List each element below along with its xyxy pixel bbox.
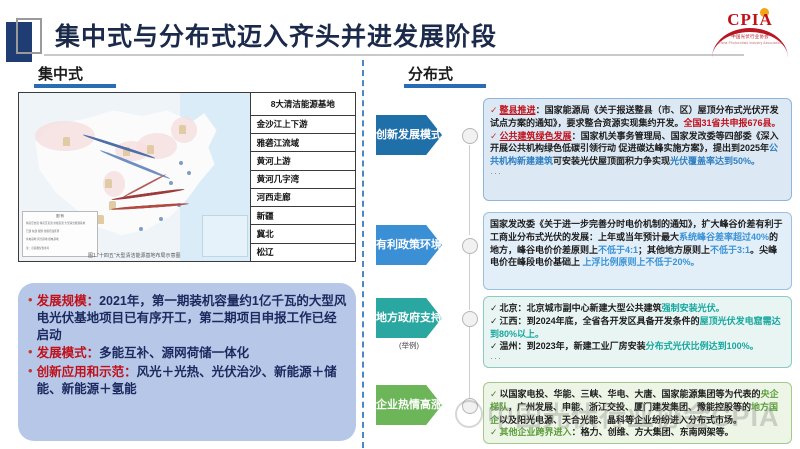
card-item-body: 温州：到2023年，新建工业厂房安装分布式光伏比例达到100%。 <box>500 341 759 351</box>
left-section-underline <box>34 84 116 88</box>
ellipsis: ··· <box>490 168 784 178</box>
text-run: 北京城市副中心新建大型公共建筑 <box>527 303 662 313</box>
text-run: 可安装光伏屋顶面积力争实现 <box>553 156 670 166</box>
summary-text: 创新应用和示范：风光＋光热、光伏治沙、新能源＋储能、新能源＋氢能 <box>37 364 348 398</box>
bullet-icon: • <box>28 364 33 398</box>
text-run: 不低于4:1 <box>598 245 638 255</box>
left-summary-box: • 发展规模：2021年，第一期装机容量约1亿千瓦的大型风电光伏基地项目已有序开… <box>18 283 356 441</box>
card-item: ✓江西：到2024年底，全省各开发区具备开发条件的屋顶光伏发电窟需达到80%以上… <box>490 315 784 341</box>
map-pin <box>179 125 186 134</box>
stage-label: 企业热情高涨 <box>376 399 442 412</box>
cpia-logo-subtitle: 中国光伏行业协会 <box>708 34 792 40</box>
map-legend: 图 例 特高压交流 特高压直流 常规直流 大型清洁能源基地 已建 在建 规划 省… <box>22 211 98 257</box>
table-row: 冀北 <box>251 225 355 243</box>
stage-label: 地方政府支持 <box>376 312 442 325</box>
check-icon: ✓ <box>490 131 498 141</box>
page-title: 集中式与分布式迈入齐头并进发展阶段 <box>55 17 497 53</box>
table-row: 河西走廊 <box>251 189 355 207</box>
card-enterprise: ✓以国家电投、华能、三峡、华电、大唐、国家能源集团等为代表的央企梯队，广州发展、… <box>483 382 792 444</box>
text-run: 以国家电投、华能、三峡、华电、大唐、国家能源集团等为代表的 <box>500 389 761 399</box>
table-row: 金沙江上下游 <box>251 116 355 134</box>
panel-divider <box>362 60 364 448</box>
stage-connector <box>469 325 470 400</box>
text-run: 光伏覆盖率达到50%。 <box>670 156 760 166</box>
text-run: 其他企业跨界进入 <box>500 427 572 437</box>
cpia-logo: CPIA 中国光伏行业协会 China Photovoltaic Industr… <box>708 6 792 50</box>
card-innovation: ✓整县推进：国家能源局《关于报送整县（市、区）屋顶分布式光伏开发试点方案的通知》… <box>483 98 792 201</box>
stage-connector <box>469 145 470 235</box>
energy-base-table: 8大清洁能源基地 金沙江上下游 雅砻江流域 黄河上游 黄河几字湾 河西走廊 新疆… <box>251 93 355 261</box>
card-item: ✓以国家电投、华能、三峡、华电、大唐、国家能源集团等为代表的央企梯队，广州发展、… <box>490 388 784 426</box>
card-item-body: 国家发改委《关于进一步完善分时电价机制的通知》，扩大峰谷价差有利于工商业分布式光… <box>490 219 783 267</box>
map-card: 图 例 特高压交流 特高压直流 常规直流 大型清洁能源基地 已建 在建 规划 省… <box>18 92 356 262</box>
stage-chevron-local-gov[interactable]: 地方政府支持 <box>376 298 442 338</box>
stage-chevron-policy[interactable]: 有利政策环境 <box>376 225 442 265</box>
text-run: ：格力、创维、方大集团、东南网架等。 <box>572 427 734 437</box>
card-local-gov: ✓北京：北京城市副中心新建大型公共建筑强制安装光伏。 ✓江西：到2024年底，全… <box>483 296 792 368</box>
card-item: ✓整县推进：国家能源局《关于报送整县（市、区）屋顶分布式光伏开发试点方案的通知》… <box>490 104 784 130</box>
map-pin <box>63 137 70 146</box>
list-item: • 创新应用和示范：风光＋光热、光伏治沙、新能源＋储能、新能源＋氢能 <box>28 364 348 398</box>
table-row: 黄河几字湾 <box>251 171 355 189</box>
map-legend-title: 图 例 <box>23 213 97 218</box>
check-icon: ✓ <box>490 389 498 399</box>
text-run: 全国31省共申报676县。 <box>684 118 781 128</box>
card-item: ✓公共建筑绿色发展：国家机关事务管理局、国家发改委等四部委《深入开展公共机构绿色… <box>490 130 784 168</box>
stage-node-enterprise <box>462 398 478 414</box>
map-inset <box>202 215 248 257</box>
text-run: 以及阳光电源、天合光能、晶科等企业纷纷进入分布式市场。 <box>499 415 742 425</box>
list-item: • 发展规模：2021年，第一期装机容量约1亿千瓦的大型风电光伏基地项目已有序开… <box>28 293 348 343</box>
china-map: 图 例 特高压交流 特高压直流 常规直流 大型清洁能源基地 已建 在建 规划 省… <box>19 93 251 261</box>
text-run: 北京： <box>500 303 527 313</box>
summary-body: 多能互补、源网荷储一体化 <box>99 346 249 360</box>
cpia-logo-text: CPIA <box>708 10 792 30</box>
stage-chevron-enterprise[interactable]: 企业热情高涨 <box>376 385 442 425</box>
map-city-dot <box>159 217 163 221</box>
right-section-title: 分布式 <box>408 63 453 84</box>
text-run: 整县推进 <box>500 105 536 115</box>
card-item: ✓其他企业跨界进入：格力、创维、方大集团、东南网架等。 <box>490 426 784 439</box>
text-run: 系统峰谷差率超过40% <box>679 232 769 242</box>
summary-key: 发展模式： <box>37 346 100 360</box>
logo-square-outline <box>16 18 42 54</box>
summary-key: 发展规模： <box>37 294 100 308</box>
card-item: 国家发改委《关于进一步完善分时电价机制的通知》，扩大峰谷价差有利于工商业分布式光… <box>490 218 784 269</box>
map-city-dot <box>139 227 143 231</box>
text-run: 到2024年底，全省各开发区具备开发条件的 <box>527 316 700 326</box>
header-logo-mark <box>6 22 42 62</box>
map-legend-row: 注：示意图仅供参考 <box>26 246 49 250</box>
map-pin <box>97 215 104 224</box>
check-icon: ✓ <box>490 105 498 115</box>
text-run: 分布式光伏比例达到100%。 <box>646 341 759 351</box>
stage-sublabel: (举例) <box>376 340 442 351</box>
table-row: 雅砻江流域 <box>251 134 355 152</box>
card-item-body: 北京：北京城市副中心新建大型公共建筑强制安装光伏。 <box>500 303 725 313</box>
text-run: 公共建筑绿色发展 <box>500 131 572 141</box>
summary-key: 创新应用和示范： <box>37 365 137 379</box>
check-icon: ✓ <box>490 303 498 313</box>
map-caption: 图1 “十四五”大型清洁能源基地布局示意图 <box>19 252 250 259</box>
cpia-logo-subtitle-en: China Photovoltaic Industry Association <box>708 41 792 45</box>
ellipsis: ··· <box>490 353 784 363</box>
card-item: ✓温州：到2023年，新建工业厂房安装分布式光伏比例达到100%。 <box>490 340 784 353</box>
table-row: 松辽 <box>251 244 355 261</box>
text-run: ；其他地方原则上 <box>638 245 710 255</box>
card-item-body: 其他企业跨界进入：格力、创维、方大集团、东南网架等。 <box>500 427 734 437</box>
map-legend-row: 水电基地 风光基地 煤电基地 <box>26 237 59 241</box>
map-city-dot <box>169 181 173 185</box>
card-item-body: 以国家电投、华能、三峡、华电、大唐、国家能源集团等为代表的央企梯队，广州发展、申… <box>490 389 779 425</box>
map-city-dot <box>179 161 183 165</box>
card-item-body: 江西：到2024年底，全省各开发区具备开发条件的屋顶光伏发电窟需达到80%以上。 <box>490 316 781 339</box>
stage-node-local-gov <box>462 311 478 327</box>
right-section-underline <box>404 84 486 88</box>
table-row: 新疆 <box>251 207 355 225</box>
bullet-icon: • <box>28 293 33 343</box>
map-pin <box>105 179 112 188</box>
card-item-body: 公共建筑绿色发展：国家机关事务管理局、国家发改委等四部委《深入开展公共机构绿色低… <box>490 131 779 167</box>
text-run: ，广州发展、申能、浙江交投、厦门建发集团、豫能控股等的 <box>508 402 751 412</box>
check-icon: ✓ <box>490 316 498 326</box>
check-icon: ✓ <box>490 427 498 437</box>
bullet-icon: • <box>28 345 33 362</box>
stage-node-policy <box>462 238 478 254</box>
stage-label: 有利政策环境 <box>376 239 442 252</box>
card-item-body: 整县推进：国家能源局《关于报送整县（市、区）屋顶分布式光伏开发试点方案的通知》，… <box>490 105 781 128</box>
summary-text: 发展规模：2021年，第一期装机容量约1亿千瓦的大型风电光伏基地项目已有序开工，… <box>37 293 348 343</box>
card-item: ✓北京：北京城市副中心新建大型公共建筑强制安装光伏。 <box>490 302 784 315</box>
map-pin <box>147 145 154 154</box>
text-run: 上浮比例原则上不低于20%。 <box>583 257 700 267</box>
header-divider-rule <box>44 54 744 56</box>
stage-chevron-innovation[interactable]: 创新发展模式 <box>376 115 442 155</box>
text-run: 江西： <box>500 316 527 326</box>
text-run: 不低于3:1 <box>710 245 750 255</box>
stage-label: 创新发展模式 <box>376 129 442 142</box>
map-legend-row: 已建 在建 规划 省级行政区界 <box>26 229 59 233</box>
table-row: 黄河上游 <box>251 152 355 170</box>
table-header: 8大清洁能源基地 <box>251 93 355 116</box>
card-policy: 国家发改委《关于进一步完善分时电价机制的通知》，扩大峰谷价差有利于工商业分布式光… <box>483 212 792 290</box>
map-legend-row: 特高压交流 特高压直流 常规直流 大型清洁能源基地 <box>26 221 85 225</box>
stage-node-innovation <box>462 128 478 144</box>
left-section-title: 集中式 <box>38 63 83 84</box>
map-city-dot <box>187 171 191 175</box>
summary-text: 发展模式：多能互补、源网荷储一体化 <box>37 345 250 362</box>
slide: 集中式与分布式迈入齐头并进发展阶段 CPIA 中国光伏行业协会 China Ph… <box>0 0 800 449</box>
stage-connector <box>469 245 470 310</box>
text-run: 温州： <box>500 341 527 351</box>
check-icon: ✓ <box>490 341 498 351</box>
list-item: • 发展模式：多能互补、源网荷储一体化 <box>28 345 348 362</box>
text-run: 强制安装光伏。 <box>662 303 725 313</box>
text-run: 到2023年，新建工业厂房安装 <box>527 341 646 351</box>
